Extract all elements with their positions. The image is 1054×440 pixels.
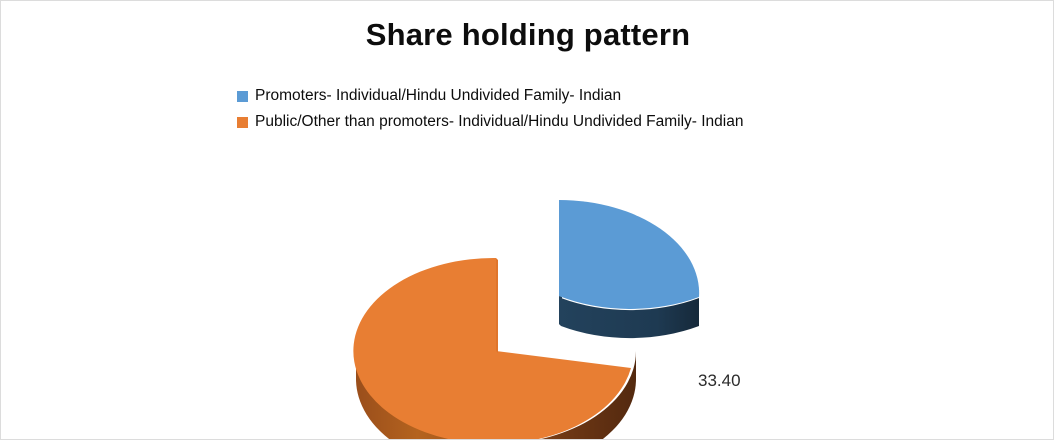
legend-item-promoters[interactable]: Promoters- Individual/Hindu Undivided Fa…	[237, 83, 937, 109]
data-label-blue: 33.40	[698, 371, 741, 391]
pie-chart-svg	[1, 151, 1054, 440]
legend-swatch-public-icon	[237, 117, 248, 128]
plot-area: 33.40 66.60	[1, 151, 1054, 440]
legend-label-promoters: Promoters- Individual/Hindu Undivided Fa…	[255, 87, 621, 105]
chart-legend: Promoters- Individual/Hindu Undivided Fa…	[237, 83, 937, 135]
chart-container: Share holding pattern Promoters- Individ…	[0, 0, 1054, 440]
chart-title: Share holding pattern	[1, 17, 1054, 53]
legend-item-public[interactable]: Public/Other than promoters- Individual/…	[237, 109, 937, 135]
pie-slice-blue-top	[559, 200, 699, 309]
legend-swatch-promoters-icon	[237, 91, 248, 102]
pie-slice-orange-notch-wall	[496, 258, 498, 353]
legend-label-public: Public/Other than promoters- Individual/…	[255, 113, 744, 131]
